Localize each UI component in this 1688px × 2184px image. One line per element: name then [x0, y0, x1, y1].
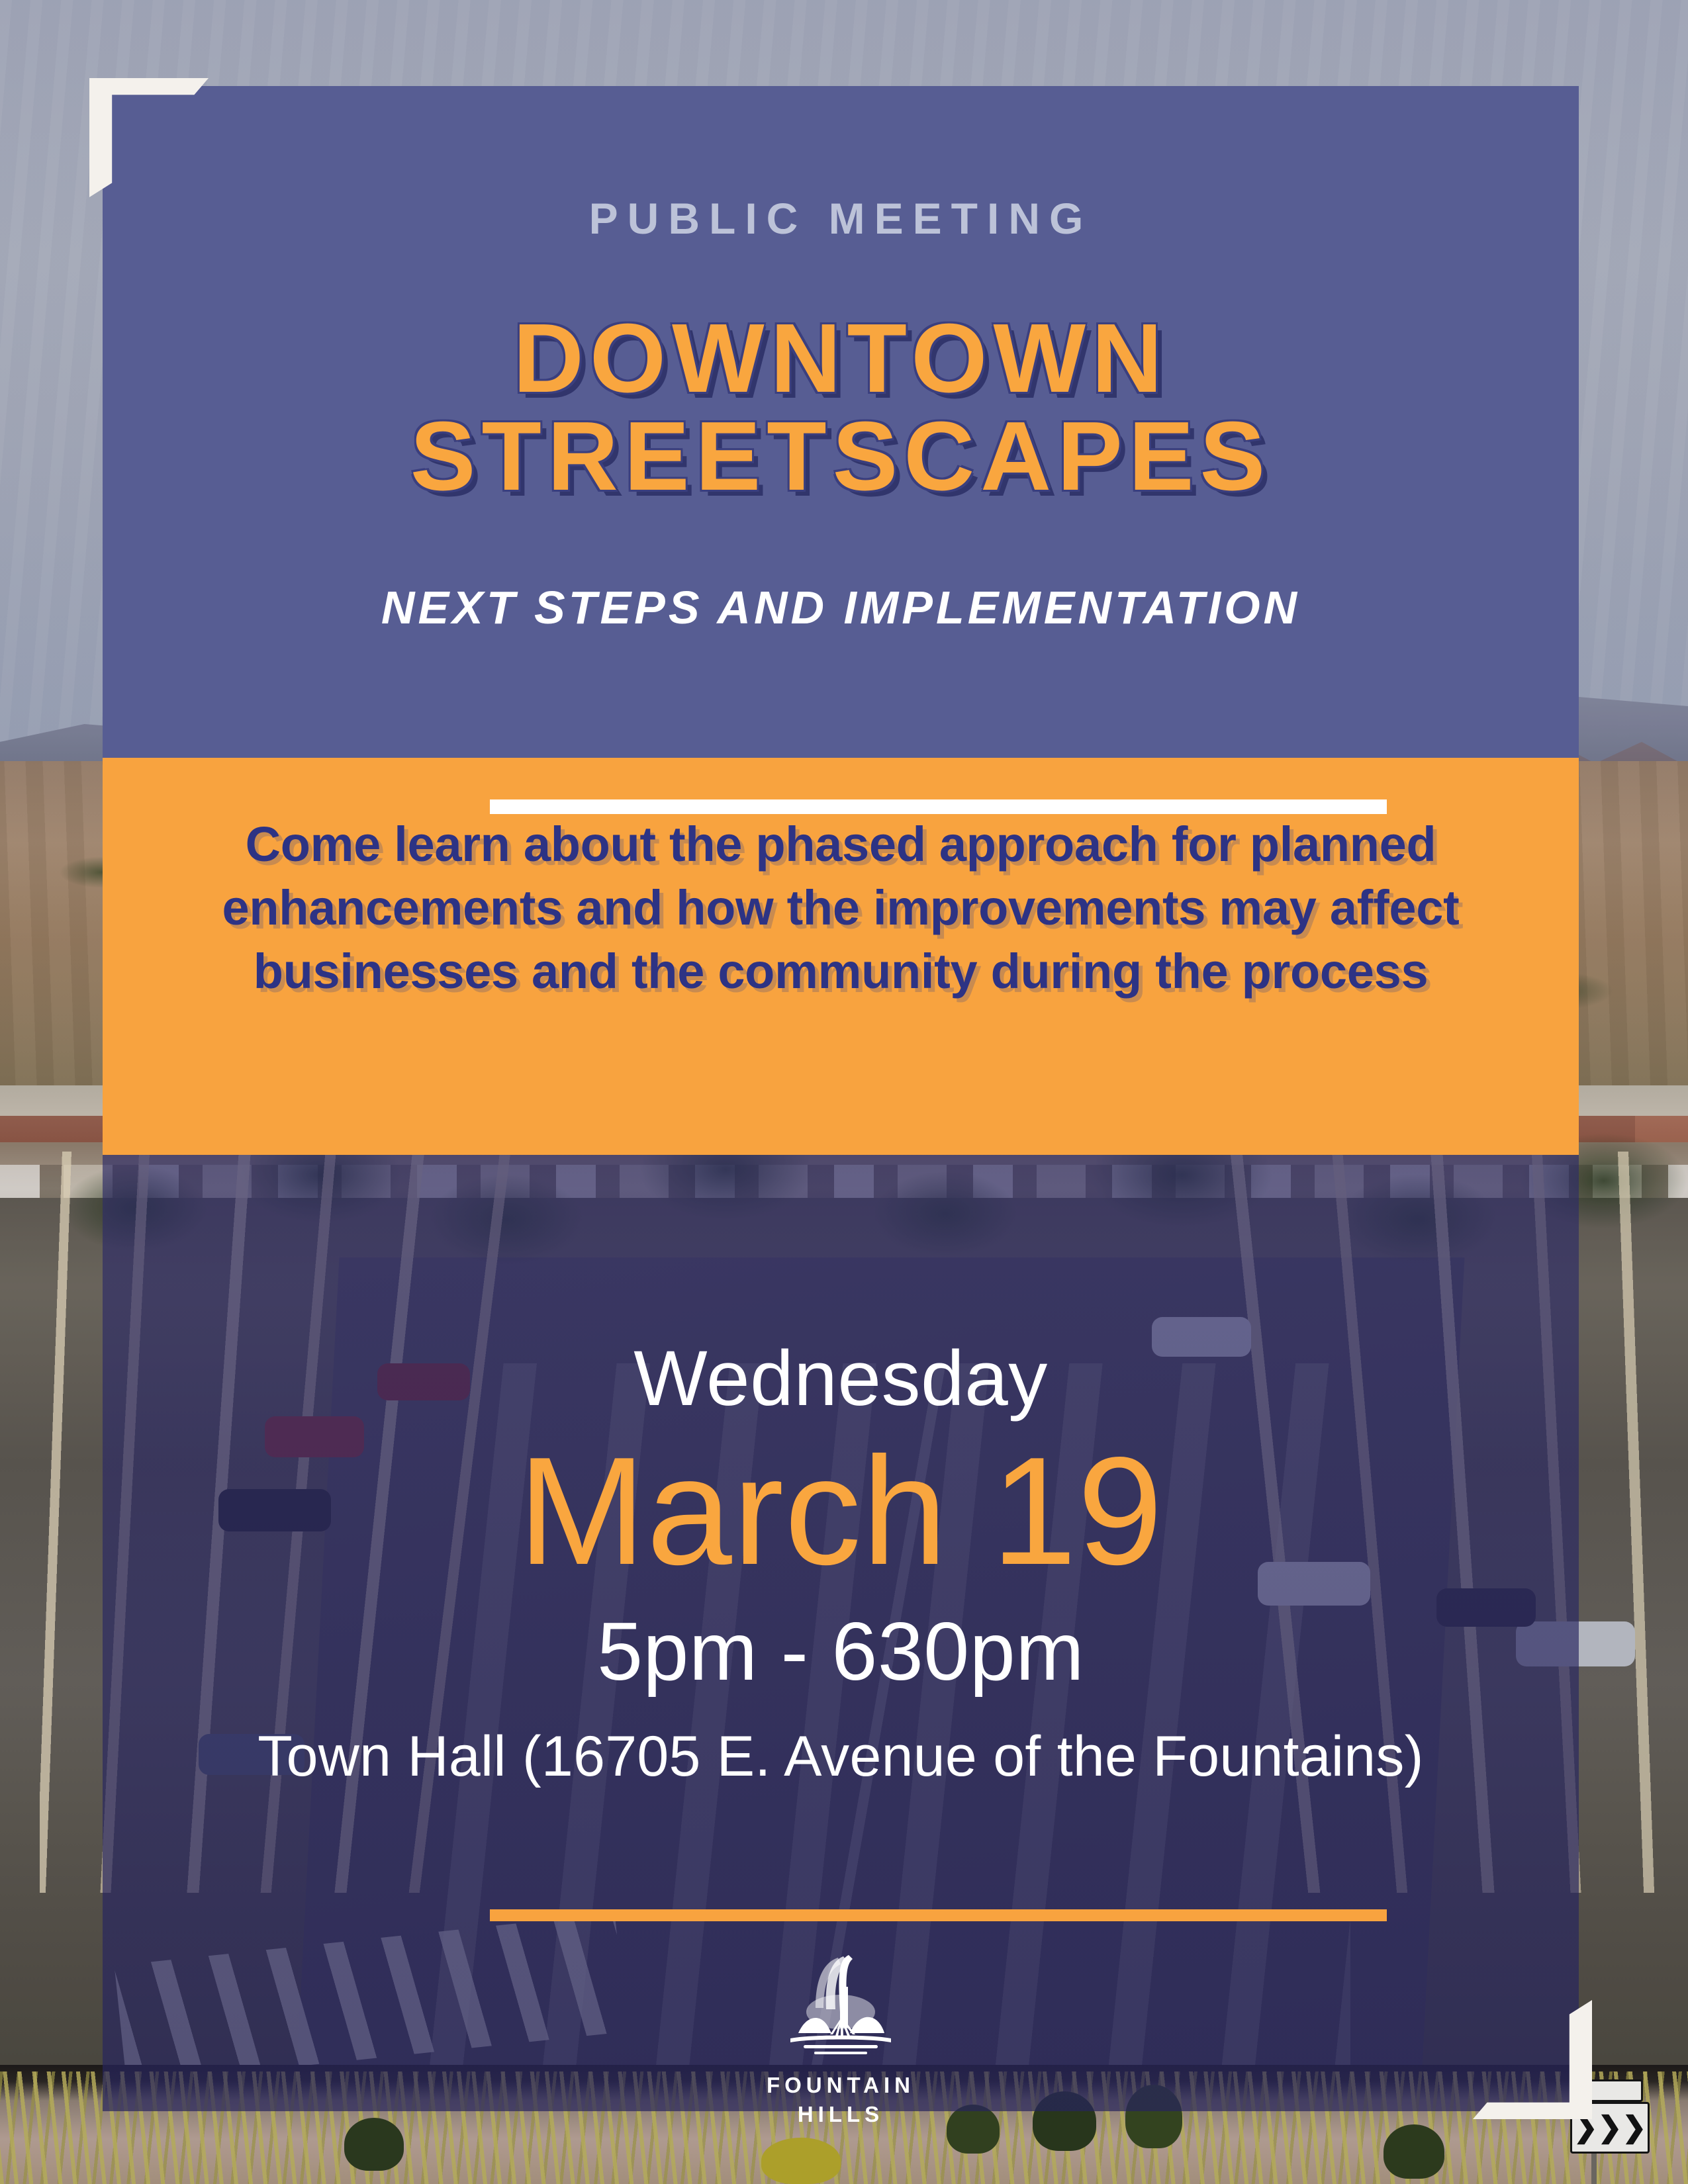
- kicker-label: PUBLIC MEETING: [103, 193, 1579, 244]
- divider-white: [490, 799, 1387, 814]
- title-line-2: STREETSCAPES: [103, 408, 1579, 506]
- fountain-icon: [774, 1952, 907, 2064]
- event-date: March 19: [103, 1423, 1579, 1600]
- fountain-hills-logo: FOUNTAIN HILLS: [728, 1952, 953, 2127]
- title-line-1: DOWNTOWN: [103, 310, 1579, 408]
- logo-text-line-1: FOUNTAIN: [728, 2073, 953, 2098]
- divider-orange: [490, 1909, 1387, 1921]
- event-time: 5pm - 630pm: [103, 1605, 1579, 1699]
- event-location: Town Hall (16705 E. Avenue of the Founta…: [103, 1724, 1579, 1790]
- event-day: Wednesday: [103, 1334, 1579, 1424]
- logo-text-line-2: HILLS: [728, 2102, 953, 2127]
- page-subtitle: NEXT STEPS AND IMPLEMENTATION: [103, 581, 1579, 634]
- page-title: DOWNTOWN STREETSCAPES: [103, 310, 1579, 506]
- banner-description: Come learn about the phased approach for…: [169, 813, 1513, 1004]
- poster: PUBLIC MEETING DOWNTOWN STREETSCAPES NEX…: [103, 86, 1579, 2111]
